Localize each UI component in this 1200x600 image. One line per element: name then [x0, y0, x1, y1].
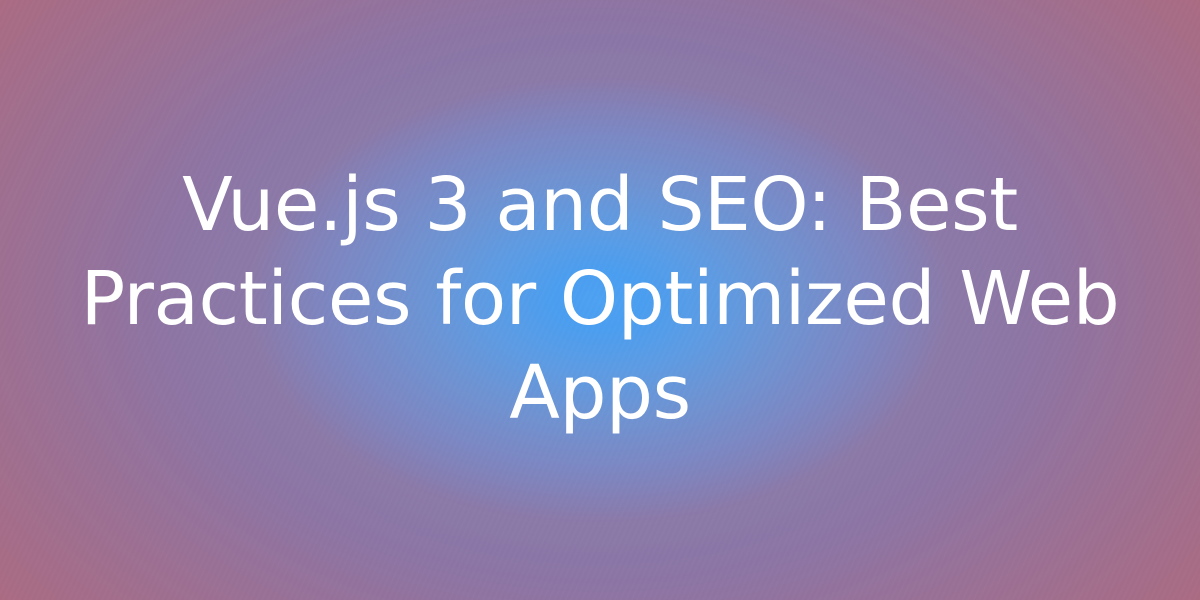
hero-banner: Vue.js 3 and SEO: Best Practices for Opt…	[0, 0, 1200, 600]
title-container: Vue.js 3 and SEO: Best Practices for Opt…	[0, 0, 1200, 600]
page-title: Vue.js 3 and SEO: Best Practices for Opt…	[60, 159, 1140, 441]
